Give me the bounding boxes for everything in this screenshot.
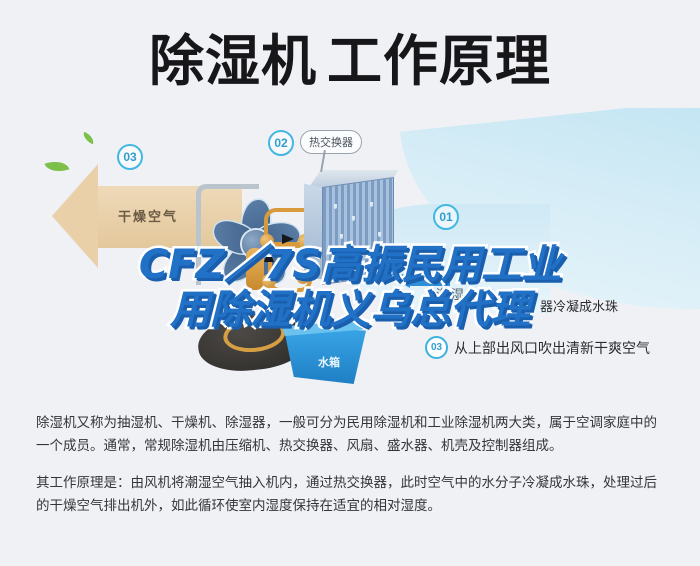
humid-air-label: 潮湿空气	[436, 284, 496, 303]
heat-exchanger-badge: 02	[268, 130, 294, 156]
step-number: 03	[425, 336, 448, 359]
water-tank: 水箱	[272, 320, 372, 392]
list-item: 03 从上部出风口吹出清新干爽空气	[425, 336, 650, 359]
dry-air-label: 干燥空气	[118, 206, 178, 225]
body-copy: 除湿机又称为抽湿机、干燥机、除湿器，一般可分为民用除湿机和工业除湿机两大类，属于…	[36, 412, 670, 518]
title-part-1: 除湿机	[149, 29, 317, 93]
paragraph-2: 其工作原理是：由风机将潮湿空气抽入机内，通过热交换器，此时空气中的水分子冷凝成水…	[36, 472, 670, 518]
title-part-2: 工作原理	[327, 29, 551, 93]
infographic-page: 除湿机工作原理 干燥空气 03	[0, 0, 700, 566]
paragraph-1: 除湿机又称为抽湿机、干燥机、除湿器，一般可分为民用除湿机和工业除湿机两大类，属于…	[36, 412, 670, 458]
water-tank-label: 水箱	[318, 354, 340, 370]
page-title: 除湿机工作原理	[0, 22, 700, 100]
list-item: 器冷凝成水珠	[540, 296, 618, 315]
leaf-icon	[81, 132, 96, 145]
step-text: 器冷凝成水珠	[540, 296, 618, 315]
humid-air-badge: 01	[433, 204, 459, 230]
dry-air-badge: 03	[117, 144, 143, 170]
flow-arrow-right-icon	[282, 234, 294, 244]
heat-exchanger-callout: 热交换器	[300, 130, 362, 154]
step-text: 从上部出风口吹出清新干爽空气	[454, 338, 650, 358]
heat-exchanger	[300, 168, 396, 286]
flow-arrow-up-icon	[264, 250, 274, 262]
